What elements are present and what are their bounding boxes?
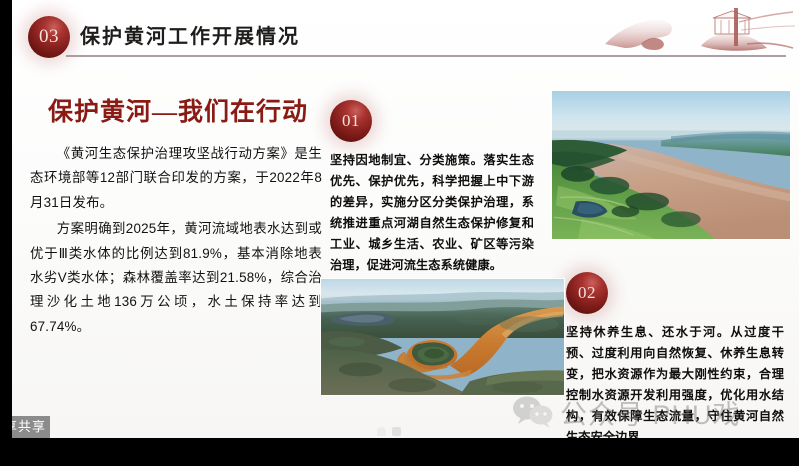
player-marker-a <box>377 427 386 436</box>
player-left-rail <box>0 0 12 466</box>
point-number-badge-02-label: 02 <box>578 283 596 303</box>
presentation-slide: 03 保护黄河工作开展情况 <box>12 0 799 438</box>
header-divider <box>66 55 786 57</box>
section-number-badge-03-label: 03 <box>39 26 59 48</box>
point-number-badge-02: 02 <box>566 272 608 314</box>
photo-river-bend-graphic <box>321 279 564 395</box>
photo-yellow-river-graphic <box>552 91 790 239</box>
left-paragraph-1: 《黄河生态保护治理攻坚战行动方案》是生态环境部等12部门联合印发的方案，于202… <box>30 142 322 215</box>
left-paragraph-2: 方案明确到2025年，黄河流域地表水达到或优于Ⅲ类水体的比例达到81.9%，基本… <box>30 217 322 339</box>
point-block-01: 01 坚持因地制宜、分类施策。落实生态优先、保护优先，科学把握上中下游的差异，实… <box>330 100 534 276</box>
left-section-heading: 保护黄河—我们在行动 <box>48 92 322 128</box>
player-bottom-band <box>0 438 799 466</box>
slide-header: 03 保护黄河工作开展情况 <box>12 0 799 62</box>
page-title: 保护黄河工作开展情况 <box>80 20 300 49</box>
ink-landscape-illustration <box>597 0 797 58</box>
photo-yellow-river-aerial <box>551 90 791 240</box>
left-text-column: 保护黄河—我们在行动 《黄河生态保护治理攻坚战行动方案》是生态环境部等12部门联… <box>30 92 322 339</box>
photo-river-bend-aerial <box>320 278 565 396</box>
video-player-viewport: 03 保护黄河工作开展情况 <box>0 0 799 466</box>
point-number-badge-01-label: 01 <box>342 111 360 131</box>
point-number-badge-01: 01 <box>330 100 372 142</box>
section-number-badge-03: 03 <box>28 16 70 58</box>
point-block-01-text: 坚持因地制宜、分类施策。落实生态优先、保护优先，科学把握上中下游的差异，实施分区… <box>330 150 534 276</box>
player-marker-b <box>392 427 401 436</box>
point-block-02: 02 坚持休养生息、还水于河。从过度干预、过度利用向自然恢复、休养生息转变，把水… <box>566 272 784 438</box>
point-block-02-text: 坚持休养生息、还水于河。从过度干预、过度利用向自然恢复、休养生息转变，把水资源作… <box>566 322 784 438</box>
